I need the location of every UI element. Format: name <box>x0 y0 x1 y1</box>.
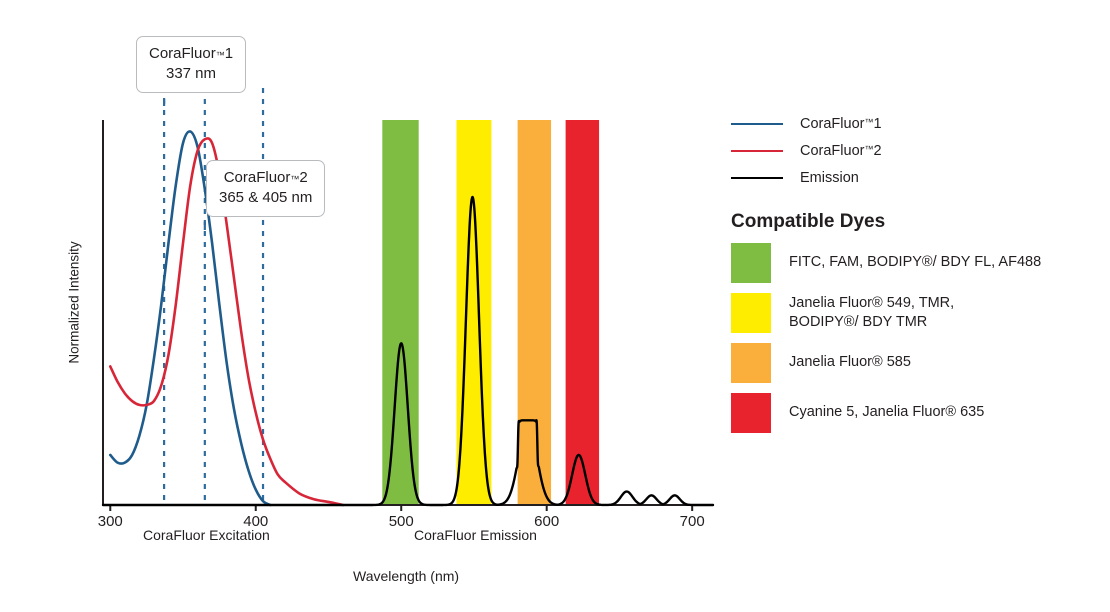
callout-corafluor-2: CoraFluor™2 365 & 405 nm <box>206 160 325 217</box>
callout-cf2-line1: CoraFluor™2 <box>219 168 312 188</box>
x-axis-label: Wavelength (nm) <box>353 568 459 584</box>
compatible-dyes-list: FITC, FAM, BODIPY®/ BDY FL, AF488Janelia… <box>731 243 1103 433</box>
band-orange <box>518 120 551 505</box>
compatible-dyes-title: Compatible Dyes <box>731 211 1103 233</box>
legend-entry-1: CoraFluor™2 <box>731 137 1103 164</box>
x-tick-label-500: 500 <box>371 513 431 530</box>
fluorescence-spectra-figure: CoraFluor™1 337 nm CoraFluor™2 365 & 405… <box>0 0 1110 612</box>
x-tick-label-700: 700 <box>662 513 722 530</box>
legend-line-swatch-0 <box>731 123 783 125</box>
callout-cf1-line1: CoraFluor™1 <box>149 44 233 64</box>
legend-line-label-1: CoraFluor™2 <box>800 143 882 159</box>
x-tick-label-600: 600 <box>517 513 577 530</box>
legend-line-entries: CoraFluor™1CoraFluor™2Emission <box>731 110 1103 191</box>
legend-entry-0: CoraFluor™1 <box>731 110 1103 137</box>
legend-line-label-2: Emission <box>800 170 859 186</box>
legend-entry-2: Emission <box>731 164 1103 191</box>
y-axis-label: Normalized Intensity <box>67 213 82 393</box>
x-tick-label-300: 300 <box>80 513 140 530</box>
band-red <box>566 120 599 505</box>
dye-label-0: FITC, FAM, BODIPY®/ BDY FL, AF488 <box>789 243 1041 272</box>
band-green <box>382 120 418 505</box>
dye-color-swatch-1 <box>731 293 771 333</box>
band-yellow <box>457 120 492 505</box>
dye-entry-3: Cyanine 5, Janelia Fluor® 635 <box>731 393 1103 433</box>
compatible-dye-bands <box>382 120 599 505</box>
legend-line-label-0: CoraFluor™1 <box>800 116 882 132</box>
legend-line-swatch-2 <box>731 177 783 179</box>
callout-cf2-line2: 365 & 405 nm <box>219 188 312 208</box>
legend-line-swatch-1 <box>731 150 783 152</box>
dye-color-swatch-3 <box>731 393 771 433</box>
dye-label-1: Janelia Fluor® 549, TMR,BODIPY®/ BDY TMR <box>789 293 954 332</box>
x-tick-label-400: 400 <box>226 513 286 530</box>
dye-color-swatch-0 <box>731 243 771 283</box>
dye-label-3: Cyanine 5, Janelia Fluor® 635 <box>789 393 984 422</box>
dye-entry-0: FITC, FAM, BODIPY®/ BDY FL, AF488 <box>731 243 1103 283</box>
dye-label-2: Janelia Fluor® 585 <box>789 343 911 372</box>
dye-entry-1: Janelia Fluor® 549, TMR,BODIPY®/ BDY TMR <box>731 293 1103 333</box>
dye-color-swatch-2 <box>731 343 771 383</box>
callout-cf1-line2: 337 nm <box>149 64 233 84</box>
legend: CoraFluor™1CoraFluor™2Emission Compatibl… <box>731 110 1103 443</box>
dye-entry-2: Janelia Fluor® 585 <box>731 343 1103 383</box>
callout-corafluor-1: CoraFluor™1 337 nm <box>136 36 246 93</box>
